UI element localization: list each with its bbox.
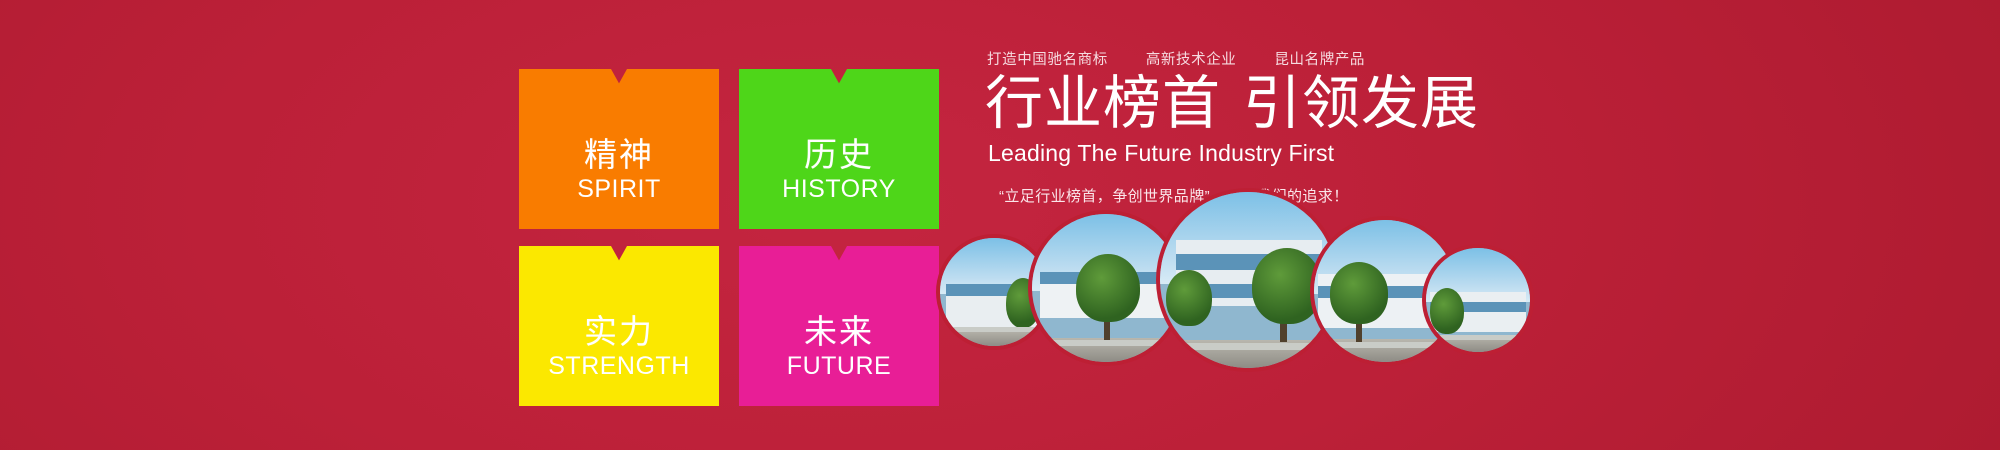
credential-badges: 打造中国驰名商标 高新技术企业 昆山名牌产品 <box>987 48 1505 69</box>
headline-part-1: 行业榜首 <box>985 71 1221 136</box>
tile-spirit-content: 精神 SPIRIT <box>577 138 661 202</box>
photo-tree <box>1076 254 1140 322</box>
photo-tree <box>1252 248 1322 324</box>
photo-fence <box>1160 343 1336 350</box>
tile-spirit-label-en: SPIRIT <box>577 177 661 202</box>
badge-hightech: 高新技术企业 <box>1146 48 1237 69</box>
tile-strength[interactable]: 实力 STRENGTH <box>519 246 719 406</box>
tile-future-label-cn: 未来 <box>804 315 874 348</box>
photo-fence <box>940 327 1048 332</box>
tile-strength-label-en: STRENGTH <box>548 354 690 379</box>
factory-photo-collage <box>940 192 1470 352</box>
badge-trademark: 打造中国驰名商标 <box>987 48 1108 69</box>
photo-tree-2 <box>1166 270 1212 326</box>
tile-history-content: 历史 HISTORY <box>782 138 896 202</box>
subheadline: Leading The Future Industry First <box>988 140 1505 168</box>
photo-fence <box>1032 340 1180 346</box>
tile-history[interactable]: 历史 HISTORY <box>739 69 939 229</box>
tile-history-label-cn: 历史 <box>804 138 874 171</box>
badge-brand: 昆山名牌产品 <box>1274 48 1365 69</box>
photo-fence <box>1426 335 1530 340</box>
tile-future-label-en: FUTURE <box>787 354 891 379</box>
headline-block: 打造中国驰名商标 高新技术企业 昆山名牌产品 行业榜首引领发展 Leading … <box>985 48 1505 206</box>
tile-strength-label-cn: 实力 <box>584 315 654 348</box>
tile-strength-content: 实力 STRENGTH <box>548 315 690 379</box>
headline-part-2: 引领发展 <box>1243 71 1479 136</box>
tile-spirit[interactable]: 精神 SPIRIT <box>519 69 719 229</box>
promo-banner: 精神 SPIRIT 历史 HISTORY 实力 STRENGTH 未来 FUTU… <box>0 0 2000 450</box>
tile-history-label-en: HISTORY <box>782 177 896 202</box>
photo-tree <box>1330 262 1388 324</box>
photo-tree <box>1430 288 1464 334</box>
collage-photo-2 <box>1032 214 1180 362</box>
tile-future-content: 未来 FUTURE <box>787 315 891 379</box>
tile-future[interactable]: 未来 FUTURE <box>739 246 939 406</box>
collage-photo-5 <box>1426 248 1530 352</box>
headline: 行业榜首引领发展 <box>985 73 1505 136</box>
collage-photo-3 <box>1160 192 1336 368</box>
value-tiles: 精神 SPIRIT 历史 HISTORY 实力 STRENGTH 未来 FUTU… <box>519 69 939 406</box>
tile-spirit-label-cn: 精神 <box>584 138 654 171</box>
